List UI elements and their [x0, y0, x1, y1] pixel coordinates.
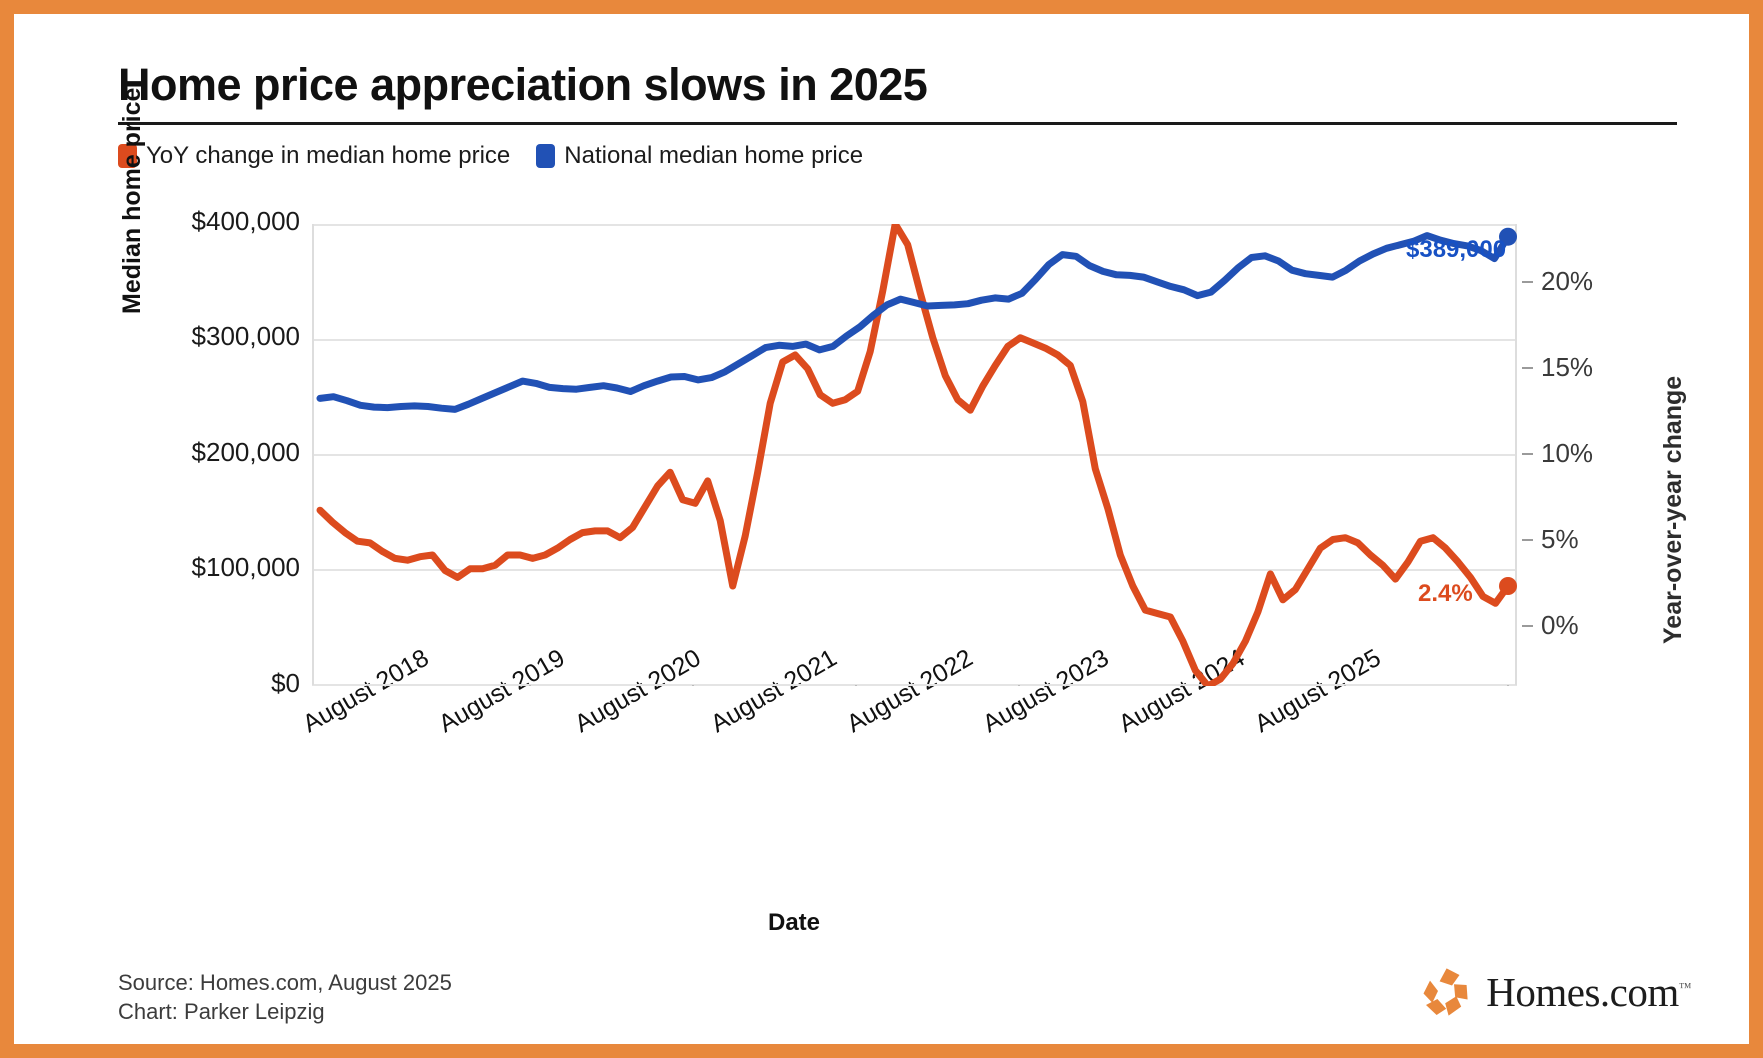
x-axis-title: Date: [14, 909, 1574, 937]
y-left-tick-300k: $300,000: [140, 321, 300, 352]
y-left-tick-100k: $100,000: [140, 552, 300, 583]
y-right-tick-10: 10%: [1541, 438, 1593, 469]
y-right-tick-15: 15%: [1541, 352, 1593, 383]
logo-wordmark: Homes.com™: [1486, 968, 1691, 1016]
page-title: Home price appreciation slows in 2025: [118, 59, 927, 111]
legend-item-yoy[interactable]: YoY change in median home price: [118, 142, 510, 170]
y-right-tickmark-10: [1522, 453, 1533, 455]
annotation-median-price-value: $389,000: [1406, 236, 1506, 264]
y-right-tick-20: 20%: [1541, 266, 1593, 297]
legend-label-median-price: National median home price: [564, 142, 863, 170]
logo-wordmark-text: Homes.com: [1486, 969, 1679, 1015]
y-right-tick-5: 5%: [1541, 524, 1579, 555]
logo-trademark: ™: [1679, 979, 1691, 994]
legend-item-median-price[interactable]: National median home price: [536, 142, 863, 170]
legend-label-yoy: YoY change in median home price: [146, 142, 510, 170]
y-right-tickmark-0: [1522, 625, 1533, 627]
footer-chart-by: Chart: Parker Leipzig: [118, 997, 452, 1026]
homes-com-logo[interactable]: Homes.com™: [1421, 966, 1691, 1018]
y-right-tickmark-20: [1522, 281, 1533, 283]
y-right-tickmark-5: [1522, 539, 1533, 541]
plot-area: [312, 224, 1517, 686]
gridlines: [312, 225, 1517, 685]
y-axis-left-title: Median home price: [118, 284, 147, 314]
title-divider: [118, 122, 1677, 125]
legend-swatch-blue-icon: [536, 144, 555, 168]
y-right-tick-0: 0%: [1541, 610, 1579, 641]
annotation-yoy-value: 2.4%: [1418, 580, 1473, 608]
chart-legend: YoY change in median home price National…: [118, 142, 863, 170]
endpoint-marker-yoy: [1499, 577, 1517, 595]
chart-card: Home price appreciation slows in 2025 Yo…: [14, 14, 1749, 1044]
footer-credits: Source: Homes.com, August 2025 Chart: Pa…: [118, 968, 452, 1027]
homes-pinwheel-icon: [1421, 966, 1473, 1018]
footer-source: Source: Homes.com, August 2025: [118, 968, 452, 997]
y-left-tick-0: $0: [140, 668, 300, 699]
chart-canvas: [312, 224, 1517, 686]
y-left-tick-200k: $200,000: [140, 437, 300, 468]
y-left-tick-400k: $400,000: [140, 206, 300, 237]
y-axis-right-title: Year-over-year change: [1659, 376, 1688, 644]
y-right-tickmark-15: [1522, 367, 1533, 369]
